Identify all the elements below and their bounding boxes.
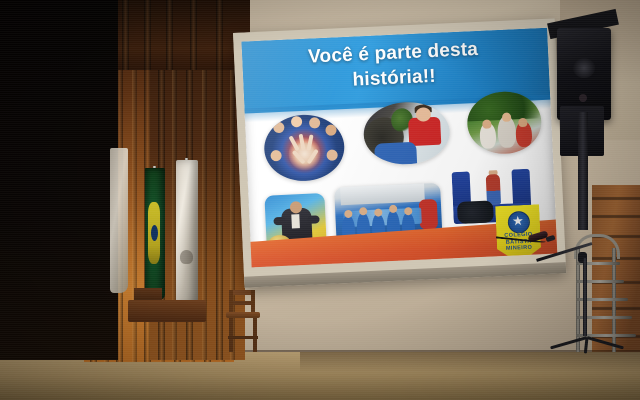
wooden-stool — [226, 290, 260, 352]
photo-students-circle — [263, 113, 346, 183]
microphone-stand-pole — [583, 258, 587, 336]
white-flag-left — [110, 148, 128, 293]
dark-stage-left — [0, 0, 118, 360]
flag-stand-base — [128, 300, 206, 322]
auditorium-photo: Você é parte desta história!! — [0, 0, 640, 400]
floor-front-apron — [0, 376, 640, 400]
flag-emblem — [180, 250, 193, 264]
speaker-pole — [578, 112, 588, 230]
white-flag-right — [176, 160, 198, 308]
stool-rung — [228, 336, 258, 339]
speaker-tweeter-icon — [579, 94, 587, 102]
stool-back — [229, 290, 255, 314]
flag-globe — [151, 225, 158, 241]
presentation-slide: Você é parte desta história!! — [241, 28, 557, 268]
logo-line-3: MINEIRO — [499, 244, 539, 252]
speaker-cone-icon — [573, 58, 595, 78]
projection-screen: Você é parte desta história!! — [233, 18, 566, 287]
photo-outdoor-family — [466, 90, 543, 155]
microphone-stand-base — [551, 330, 623, 348]
star-icon: ★ — [511, 214, 526, 229]
brazilian-flag — [145, 168, 165, 300]
floor-shadow — [300, 352, 640, 372]
